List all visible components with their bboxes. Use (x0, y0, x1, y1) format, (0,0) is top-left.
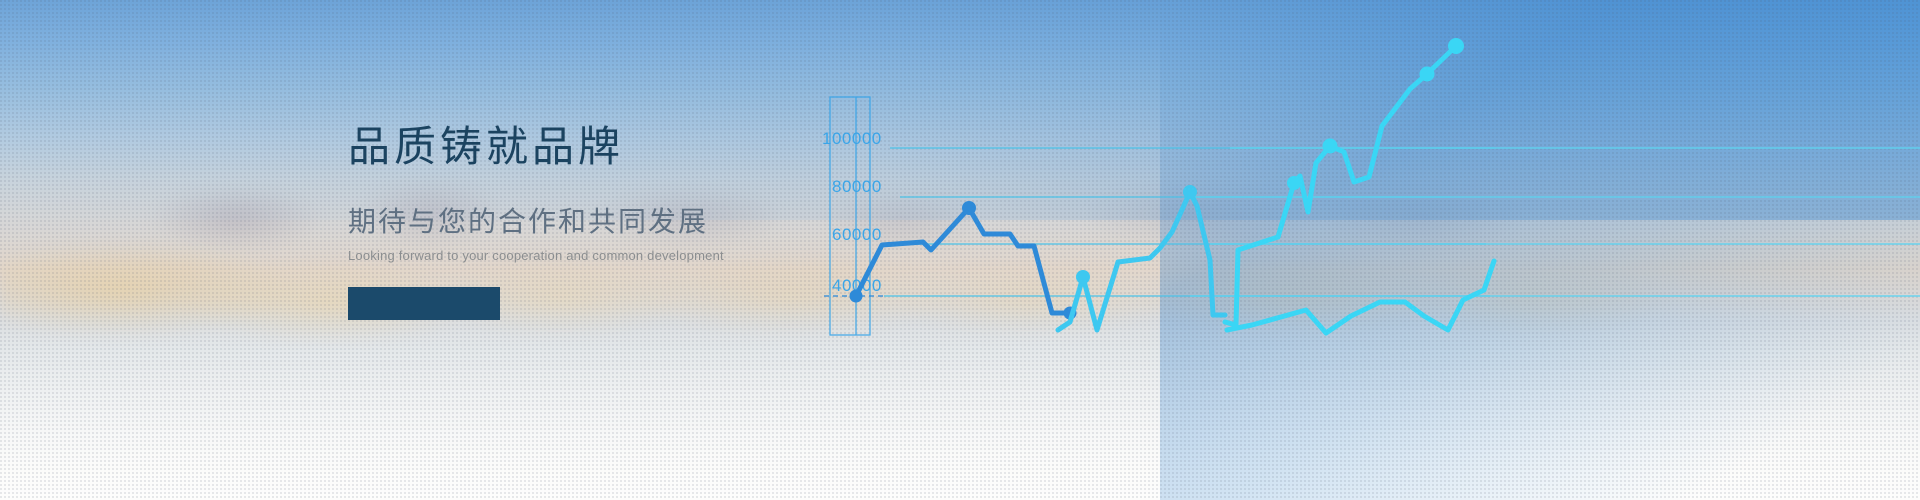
banner-copy-block: 品质铸就品牌 期待与您的合作和共同发展 Looking forward to y… (348, 126, 768, 320)
chart-gridlines-right (1190, 148, 1920, 296)
chart-series-4 (1227, 261, 1494, 333)
svg-text:100000: 100000 (822, 129, 882, 148)
banner-subtitle-cn: 期待与您的合作和共同发展 (348, 208, 768, 236)
chart-y-axis-labels: 100000 80000 60000 40000 (822, 129, 882, 295)
chart-series-3 (1225, 46, 1456, 325)
chart-series-1-markers (850, 201, 1077, 320)
chart-series-2 (1058, 192, 1225, 330)
banner-subtitle-en: Looking forward to your cooperation and … (348, 249, 768, 262)
banner-title: 品质铸就品牌 (348, 126, 768, 168)
svg-text:60000: 60000 (832, 225, 882, 244)
chart-series-2-markers (1076, 185, 1197, 284)
chart-series-1 (856, 208, 1070, 313)
banner-cta-button[interactable] (348, 287, 500, 320)
svg-text:80000: 80000 (832, 177, 882, 196)
hero-banner: 品质铸就品牌 期待与您的合作和共同发展 Looking forward to y… (0, 0, 1920, 500)
line-chart: 100000 80000 60000 40000 (760, 0, 1920, 500)
